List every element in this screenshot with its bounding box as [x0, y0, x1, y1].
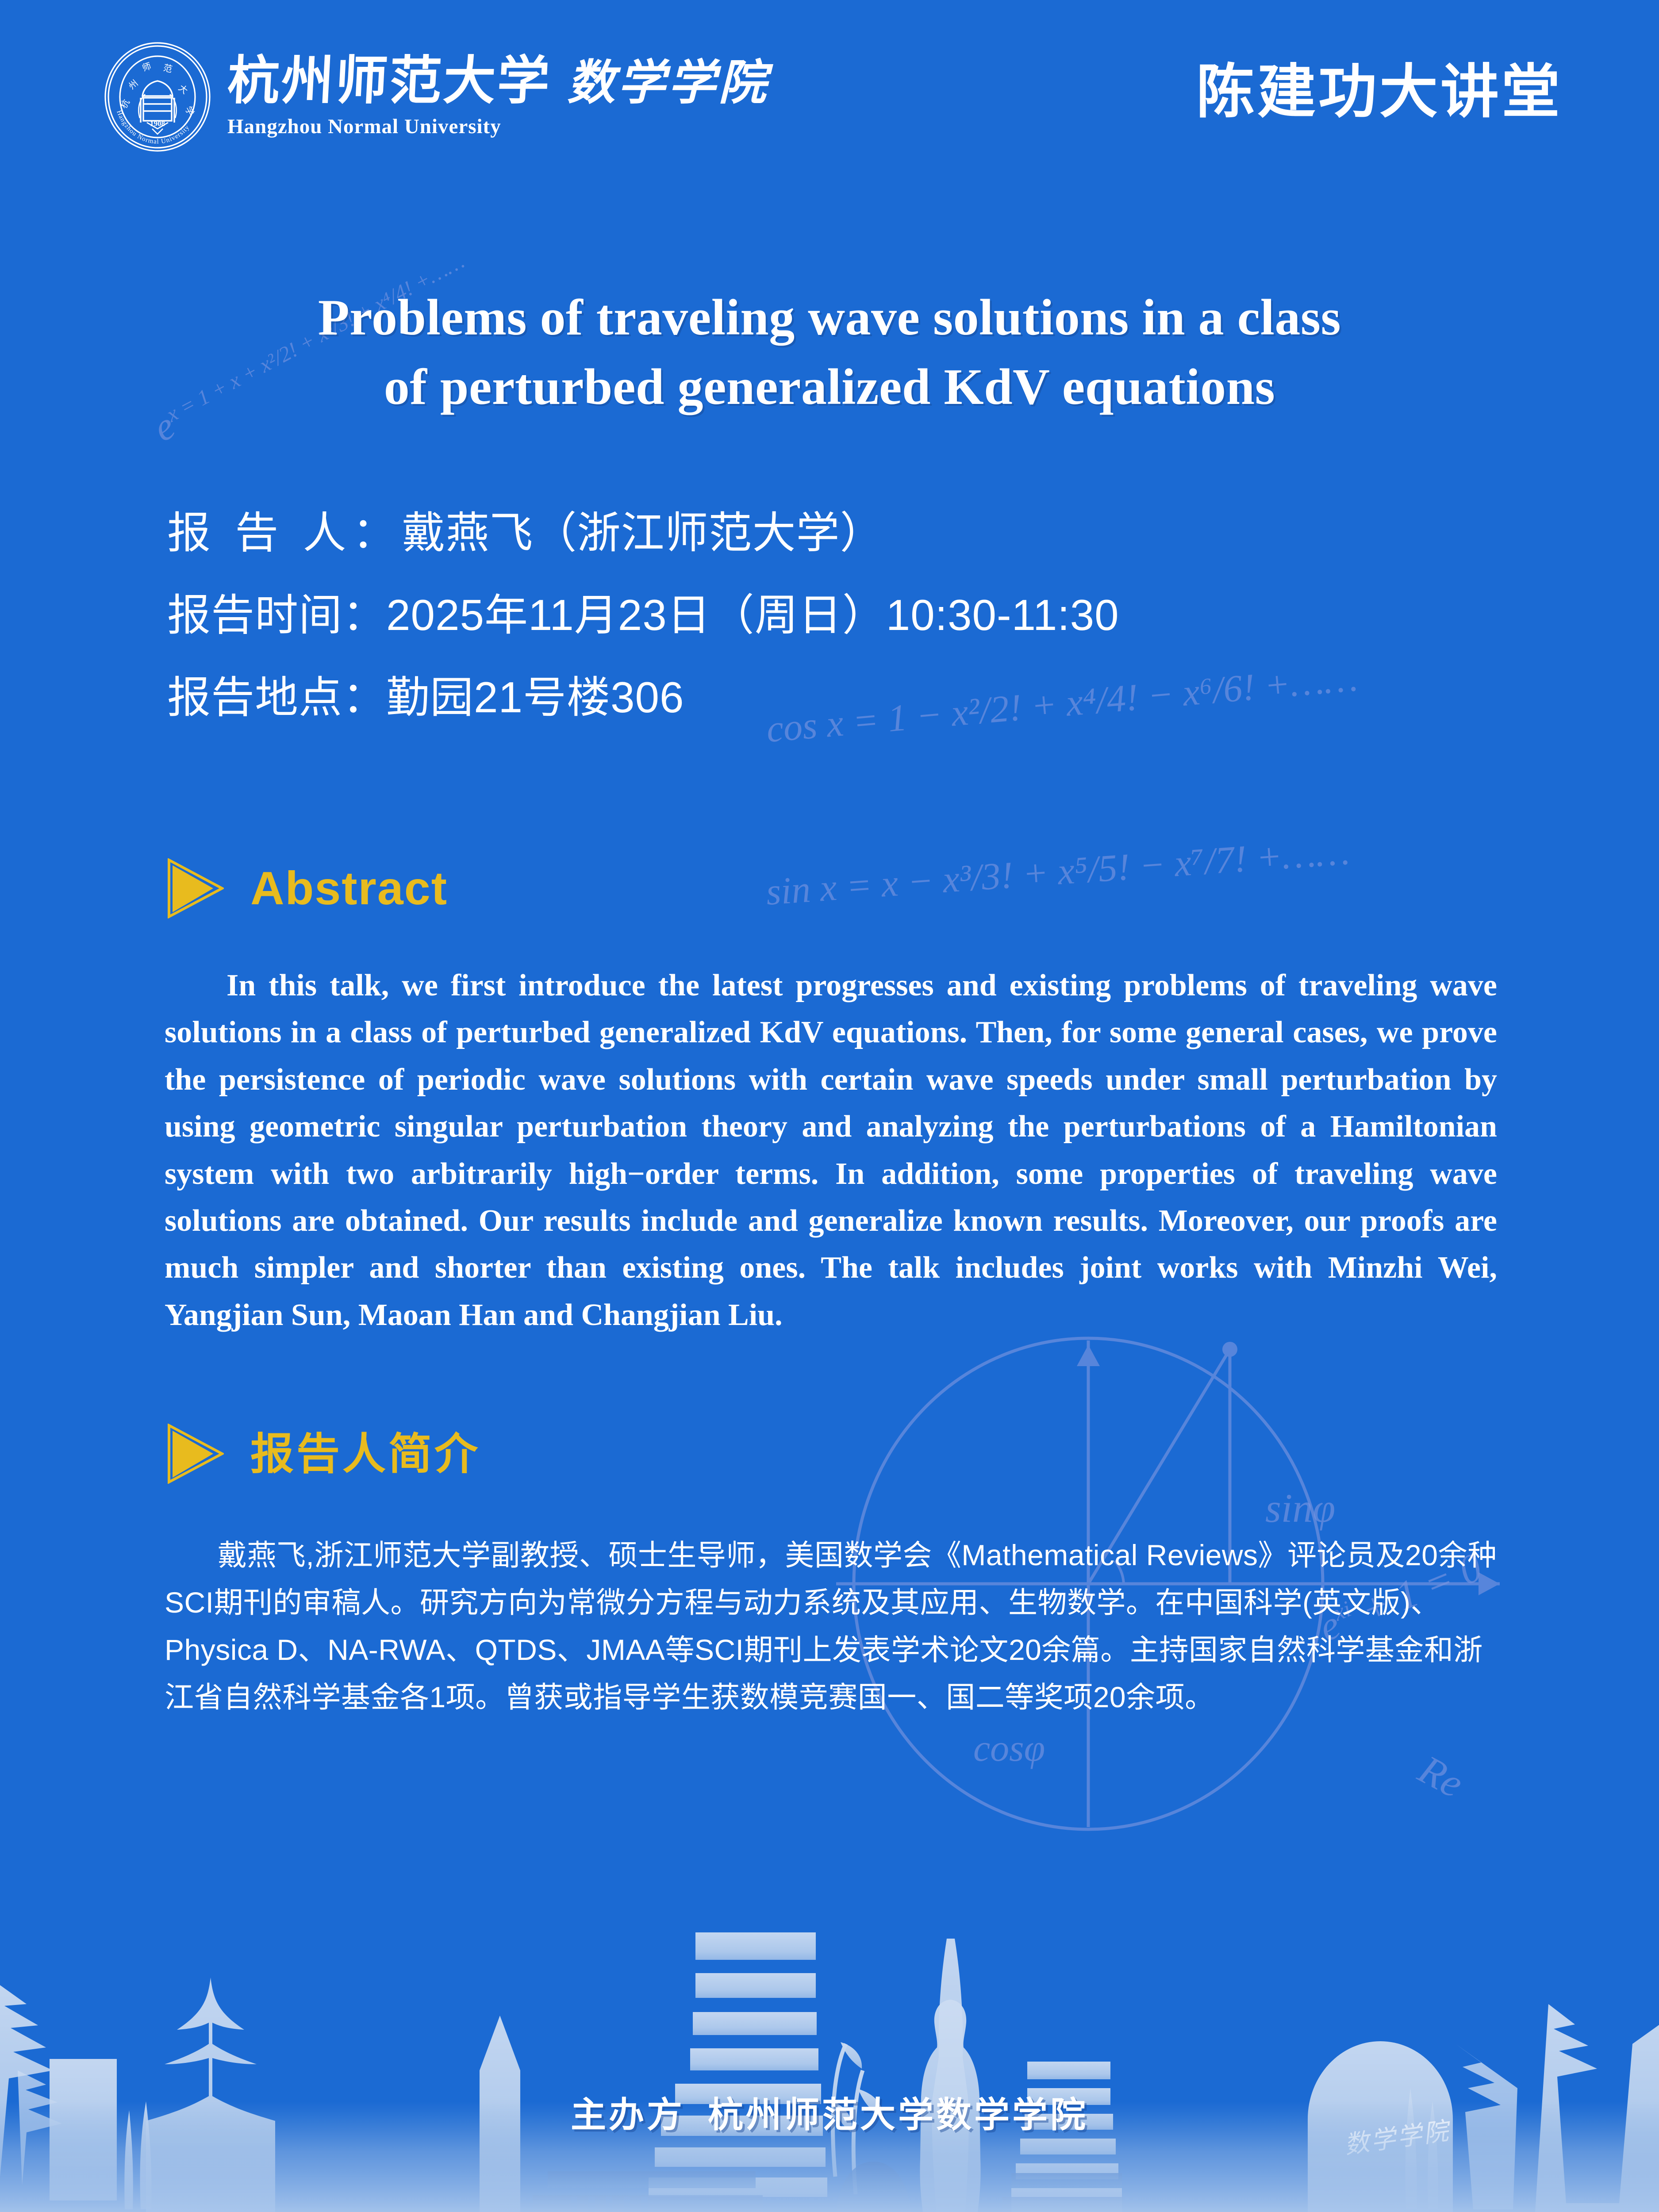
svg-text:师: 师	[141, 61, 152, 73]
organizer-line: 主办方杭州师范大学数学学院	[0, 2086, 1659, 2138]
abstract-body-text: In this talk, we first introduce the lat…	[165, 968, 1497, 1332]
triangle-bullet-icon	[167, 1424, 224, 1484]
talk-title-line2: of perturbed generalized KdV equations	[0, 353, 1659, 422]
poster-header: 1908 师 范 州 大 杭 学 Hangzhou Normal Univers…	[0, 42, 1659, 166]
place-value: 勤园21号楼306	[386, 673, 684, 722]
time-value: 2025年11月23日（周日）10:30-11:30	[386, 591, 1119, 639]
watermark-sin-series: sin x = x − x³/3! + x⁵/5! − x⁷/7! +……	[764, 829, 1351, 914]
university-name-block: 杭州师范大学 数学学院 Hangzhou Normal University	[227, 55, 769, 138]
university-name-en: Hangzhou Normal University	[227, 115, 769, 138]
watermark-re-label: Re	[1411, 1746, 1471, 1806]
lecture-hall-title: 陈建功大讲堂	[1196, 46, 1563, 139]
bio-section-heading: 报告人简介	[167, 1424, 480, 1484]
seal-year: 1908	[150, 119, 165, 128]
svg-text:范: 范	[162, 63, 173, 75]
speaker-value: 戴燕飞（浙江师范大学）	[402, 508, 883, 557]
place-row: 报告地点：勤园21号楼306	[167, 676, 1450, 719]
footer-skyline: 数学学院	[0, 1911, 1659, 2212]
organizer-label: 主办方	[571, 2095, 685, 2135]
abstract-body: In this talk, we first introduce the lat…	[165, 962, 1497, 1339]
event-meta-block: 报 告 人：戴燕飞（浙江师范大学） 报告时间：2025年11月23日（周日）10…	[167, 511, 1450, 758]
department-name-cn: 数学学院	[567, 60, 769, 108]
bio-body: 戴燕飞,浙江师范大学副教授、硕士生导师，美国数学会《Mathematical R…	[165, 1532, 1502, 1721]
talk-title-line1: Problems of traveling wave solutions in …	[0, 283, 1659, 353]
time-label: 报告时间：	[167, 591, 386, 639]
abstract-heading-label: Abstract	[250, 865, 448, 912]
time-row: 报告时间：2025年11月23日（周日）10:30-11:30	[167, 593, 1450, 637]
seminar-poster: ex = 1 + x + x²/2! + x³/3! + x⁴/4! +…… c…	[0, 0, 1659, 2212]
speaker-row: 报 告 人：戴燕飞（浙江师范大学）	[167, 511, 1450, 554]
university-logo-block: 1908 师 范 州 大 杭 学 Hangzhou Normal Univers…	[103, 42, 769, 152]
university-seal-icon: 1908 师 范 州 大 杭 学 Hangzhou Normal Univers…	[103, 42, 212, 152]
organizer-value: 杭州师范大学数学学院	[708, 2095, 1088, 2135]
bio-body-text: 戴燕飞,浙江师范大学副教授、硕士生导师，美国数学会《Mathematical R…	[165, 1539, 1497, 1713]
svg-text:州: 州	[127, 78, 140, 92]
talk-title: Problems of traveling wave solutions in …	[0, 283, 1659, 422]
abstract-section-heading: Abstract	[167, 858, 448, 918]
speaker-label: 报 告 人：	[167, 508, 402, 557]
university-name-cn: 杭州师范大学	[226, 55, 553, 108]
triangle-bullet-icon	[167, 858, 224, 918]
place-label: 报告地点：	[167, 673, 386, 722]
svg-text:大: 大	[177, 83, 190, 96]
bio-heading-label: 报告人简介	[250, 1432, 480, 1475]
watermark-sin-label: sinφ	[1265, 1486, 1335, 1531]
skyline-graphic: 数学学院	[0, 1911, 1659, 2212]
watermark-cos-label: cosφ	[973, 1727, 1045, 1769]
